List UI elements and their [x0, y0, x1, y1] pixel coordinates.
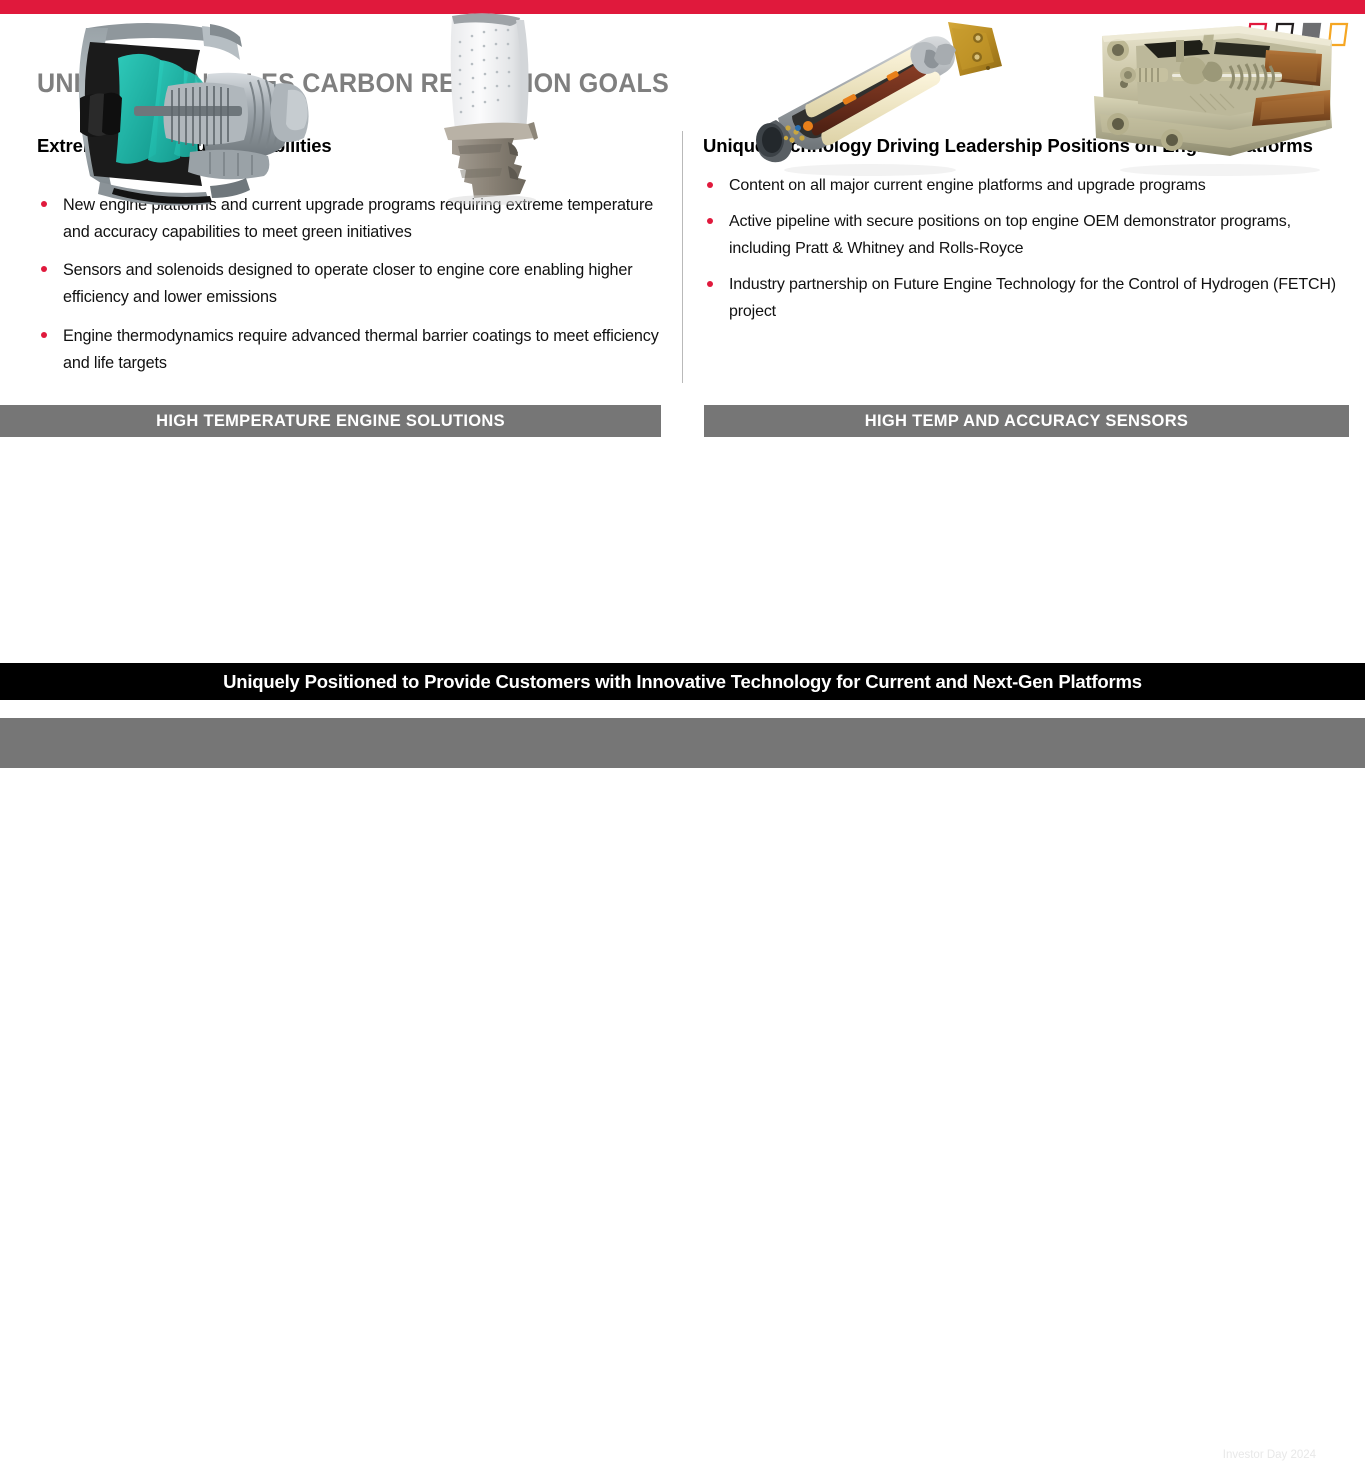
logo-line-2: WRIGHT	[37, 1461, 122, 1478]
bullet-dot-icon	[707, 281, 713, 287]
high-temp-sensor-cutaway-image	[730, 0, 1030, 215]
column-divider	[682, 131, 683, 383]
slide-footer: CURTISS – WRIGHT Investor Day 2024 35	[0, 718, 1365, 768]
list-item: Active pipeline with secure positions on…	[703, 209, 1348, 262]
solenoid-valve-cutaway-image	[1080, 0, 1365, 215]
turbofan-engine-cutaway-image	[60, 0, 360, 215]
list-item: Engine thermodynamics require advanced t…	[37, 323, 662, 377]
page-number: 35	[1332, 1447, 1346, 1461]
list-item: Industry partnership on Future Engine Te…	[703, 272, 1348, 325]
logo-line-1: CURTISS –	[37, 1442, 122, 1461]
section-bar-right: HIGH TEMP AND ACCURACY SENSORS	[704, 405, 1349, 437]
bullet-dot-icon	[41, 201, 47, 207]
left-bullet-list: New engine platforms and current upgrade…	[37, 192, 662, 377]
bullet-text: Sensors and solenoids designed to operat…	[63, 261, 633, 306]
bullet-dot-icon	[707, 182, 713, 188]
list-item: Sensors and solenoids designed to operat…	[37, 257, 662, 311]
curtiss-wright-logo: CURTISS – WRIGHT	[37, 1444, 122, 1477]
footer-meta: Investor Day 2024 35	[1223, 1447, 1346, 1461]
bullet-dot-icon	[41, 332, 47, 338]
turbine-blade-coating-image	[412, 0, 587, 215]
bullet-text: Active pipeline with secure positions on…	[729, 213, 1291, 257]
bullet-text: Industry partnership on Future Engine Te…	[729, 276, 1336, 320]
bullet-text: Engine thermodynamics require advanced t…	[63, 327, 659, 372]
event-label: Investor Day 2024	[1223, 1449, 1316, 1461]
slide-canvas: UNIQUE IP ENABLES CARBON REDUCTION GOALS…	[0, 0, 1365, 768]
bullet-dot-icon	[707, 218, 713, 224]
key-message-banner: Uniquely Positioned to Provide Customers…	[0, 663, 1365, 700]
section-bar-left: HIGH TEMPERATURE ENGINE SOLUTIONS	[0, 405, 661, 437]
bullet-dot-icon	[41, 266, 47, 272]
